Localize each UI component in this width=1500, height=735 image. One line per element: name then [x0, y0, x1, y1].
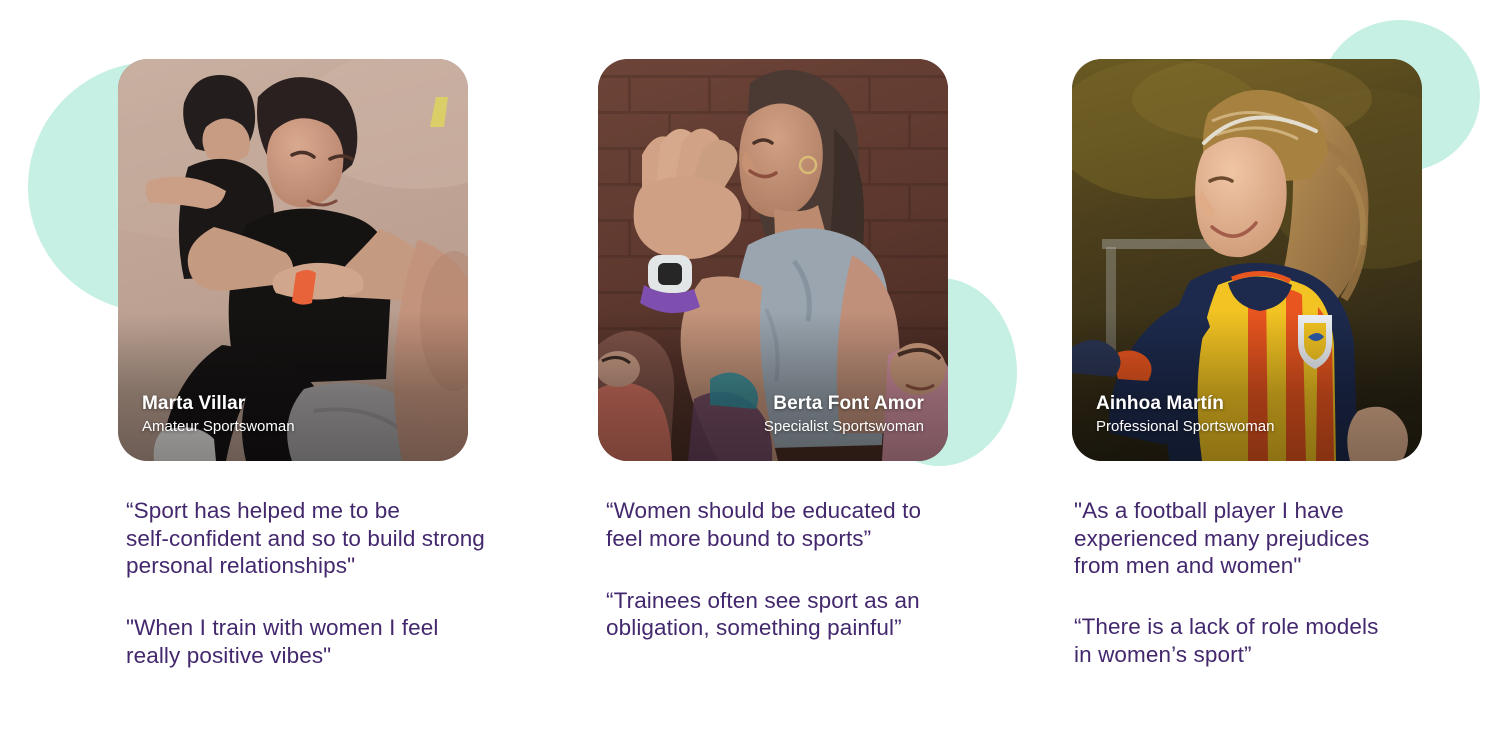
card-name: Marta Villar [142, 392, 444, 416]
testimonials-section: Marta Villar Amateur Sportswoman “Sport … [0, 0, 1500, 735]
card-name: Ainhoa Martín [1096, 392, 1398, 416]
card-name: Berta Font Amor [622, 392, 924, 416]
card-role: Amateur Sportswoman [142, 417, 444, 437]
quote-text: “Trainees often see sport as an obligati… [606, 587, 1026, 642]
quote-text: “Women should be educated to feel more b… [606, 497, 1026, 552]
card-caption: Berta Font Amor Specialist Sportswoman [622, 392, 924, 436]
card-caption: Marta Villar Amateur Sportswoman [142, 392, 444, 436]
quote-list: “Sport has helped me to be self-confiden… [126, 497, 546, 670]
card-role: Professional Sportswoman [1096, 417, 1398, 437]
card-caption: Ainhoa Martín Professional Sportswoman [1096, 392, 1398, 436]
testimonial-columns: Marta Villar Amateur Sportswoman “Sport … [0, 0, 1500, 735]
quote-text: "As a football player I have experienced… [1074, 497, 1494, 580]
testimonial-card-ainhoa-martin[interactable]: Ainhoa Martín Professional Sportswoman [1072, 59, 1422, 461]
quote-text: “There is a lack of role models in women… [1074, 613, 1494, 668]
testimonial-card-marta-villar[interactable]: Marta Villar Amateur Sportswoman [118, 59, 468, 461]
quote-list: "As a football player I have experienced… [1074, 497, 1494, 668]
quote-list: “Women should be educated to feel more b… [606, 497, 1026, 642]
quote-text: “Sport has helped me to be self-confiden… [126, 497, 546, 580]
testimonial-card-berta-font-amor[interactable]: Berta Font Amor Specialist Sportswoman [598, 59, 948, 461]
card-role: Specialist Sportswoman [622, 417, 924, 437]
quote-text: "When I train with women I feel really p… [126, 614, 546, 669]
